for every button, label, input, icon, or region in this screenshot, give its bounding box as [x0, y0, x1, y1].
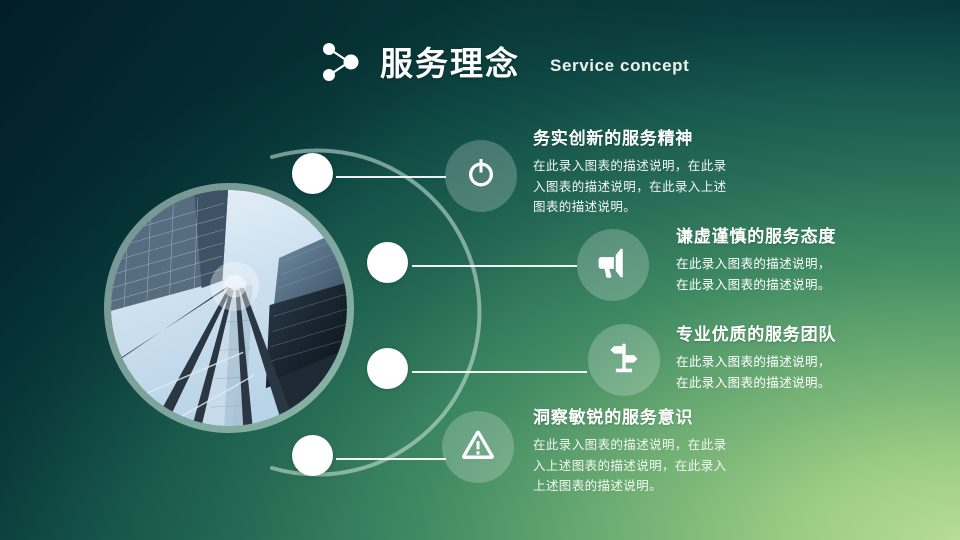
- item-body-2: 在此录入图表的描述说明， 在此录入图表的描述说明。: [676, 254, 836, 295]
- photo-circle-frame: [104, 183, 354, 433]
- item-heading-4: 洞察敏锐的服务意识: [533, 403, 727, 428]
- slide-canvas: 服务理念 Service concept: [0, 0, 960, 540]
- slide-title-row: 服务理念 Service concept: [318, 40, 689, 86]
- text-block-1: 务实创新的服务精神 在此录入图表的描述说明，在此录 入图表的描述说明，在此录入上…: [533, 124, 727, 218]
- icon-badge-4[interactable]: [442, 411, 514, 483]
- item-body-4: 在此录入图表的描述说明，在此录 入上述图表的描述说明，在此录入 上述图表的描述说…: [533, 435, 727, 497]
- connector-line-1: [336, 176, 446, 178]
- item-body-line: 在此录入图表的描述说明。: [676, 373, 836, 394]
- item-body-line: 入图表的描述说明，在此录入上述: [533, 177, 727, 198]
- megaphone-icon: [595, 245, 631, 286]
- item-body-line: 图表的描述说明。: [533, 197, 727, 218]
- page-title: 服务理念: [380, 47, 520, 80]
- icon-badge-1[interactable]: [445, 140, 517, 212]
- warning-triangle-icon: [460, 427, 496, 468]
- item-body-line: 在此录入图表的描述说明，: [676, 254, 836, 275]
- icon-badge-2[interactable]: [577, 229, 649, 301]
- item-body-line: 入上述图表的描述说明，在此录入: [533, 456, 727, 477]
- connector-line-2: [412, 265, 577, 267]
- item-body-line: 在此录入图表的描述说明。: [676, 275, 836, 296]
- icon-badge-3[interactable]: [588, 324, 660, 396]
- power-icon: [463, 156, 499, 197]
- node-dot-3[interactable]: [367, 348, 408, 389]
- page-subtitle: Service concept: [550, 56, 689, 76]
- text-block-3: 专业优质的服务团队 在此录入图表的描述说明， 在此录入图表的描述说明。: [676, 320, 836, 393]
- item-body-line: 在此录入图表的描述说明，: [676, 352, 836, 373]
- item-heading-2: 谦虚谨慎的服务态度: [676, 222, 836, 247]
- signpost-icon: [606, 340, 642, 381]
- item-body-line: 在此录入图表的描述说明，在此录: [533, 156, 727, 177]
- skyscrapers-upward-view-photo: [111, 190, 347, 426]
- node-dot-1[interactable]: [292, 153, 333, 194]
- text-block-4: 洞察敏锐的服务意识 在此录入图表的描述说明，在此录 入上述图表的描述说明，在此录…: [533, 403, 727, 497]
- text-block-2: 谦虚谨慎的服务态度 在此录入图表的描述说明， 在此录入图表的描述说明。: [676, 222, 836, 295]
- item-heading-1: 务实创新的服务精神: [533, 124, 727, 149]
- connector-line-4: [336, 458, 446, 460]
- node-dot-2[interactable]: [367, 242, 408, 283]
- item-body-line: 上述图表的描述说明。: [533, 476, 727, 497]
- share-node-icon: [318, 40, 364, 86]
- item-body-1: 在此录入图表的描述说明，在此录 入图表的描述说明，在此录入上述 图表的描述说明。: [533, 156, 727, 218]
- node-dot-4[interactable]: [292, 435, 333, 476]
- left-diagram: [95, 135, 455, 490]
- connector-line-3: [412, 371, 587, 373]
- item-heading-3: 专业优质的服务团队: [676, 320, 836, 345]
- item-body-3: 在此录入图表的描述说明， 在此录入图表的描述说明。: [676, 352, 836, 393]
- item-body-line: 在此录入图表的描述说明，在此录: [533, 435, 727, 456]
